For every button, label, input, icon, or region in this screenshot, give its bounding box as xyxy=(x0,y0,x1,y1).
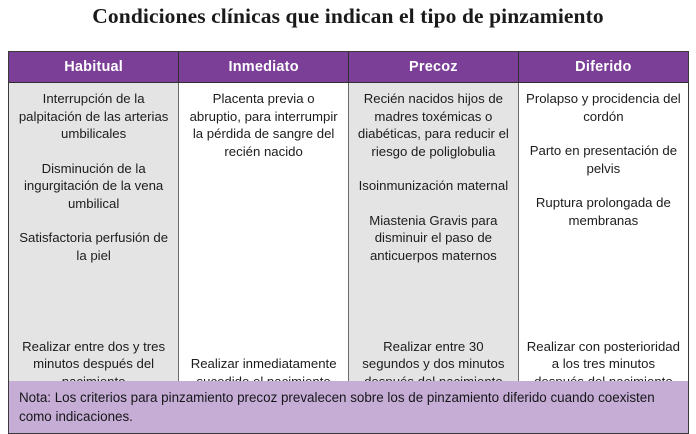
conditions-habitual: Interrupción de la palpitación de las ar… xyxy=(16,90,171,264)
cell-precoz: Recién nacidos hijos de madres toxémicas… xyxy=(349,83,519,413)
cell-inner-diferido: Prolapso y procidencia del cordón Parto … xyxy=(526,90,681,412)
column-header-inmediato: Inmediato xyxy=(179,52,349,83)
table-header: Habitual Inmediato Precoz Diferido xyxy=(9,52,688,83)
conditions-diferido: Prolapso y procidencia del cordón Parto … xyxy=(526,90,681,229)
cell-inmediato: Placenta previa o abruptio, para interru… xyxy=(179,83,349,413)
condition-item: Recién nacidos hijos de madres toxémicas… xyxy=(356,90,511,160)
cell-inner-precoz: Recién nacidos hijos de madres toxémicas… xyxy=(356,90,511,412)
condition-item: Disminución de la ingurgitación de la ve… xyxy=(16,160,171,213)
table-body: Interrupción de la palpitación de las ar… xyxy=(9,83,688,413)
cell-habitual: Interrupción de la palpitación de las ar… xyxy=(9,83,179,413)
column-header-diferido: Diferido xyxy=(518,52,688,83)
cell-inner-habitual: Interrupción de la palpitación de las ar… xyxy=(16,90,171,412)
condition-item: Miastenia Gravis para disminuir el paso … xyxy=(356,212,511,265)
footer-note: Nota: Los criterios para pinzamiento pre… xyxy=(8,381,689,434)
table-header-row: Habitual Inmediato Precoz Diferido xyxy=(9,52,688,83)
table: Habitual Inmediato Precoz Diferido Inter… xyxy=(9,52,688,412)
condition-item: Ruptura prolongada de membranas xyxy=(526,194,681,229)
conditions-precoz: Recién nacidos hijos de madres toxémicas… xyxy=(356,90,511,264)
condition-item: Isoinmunización maternal xyxy=(356,177,511,195)
condition-item: Placenta previa o abruptio, para interru… xyxy=(186,90,341,160)
condition-item: Parto en presentación de pelvis xyxy=(526,142,681,177)
clinical-conditions-table: Habitual Inmediato Precoz Diferido Inter… xyxy=(8,51,689,413)
column-header-habitual: Habitual xyxy=(9,52,179,83)
cell-inner-inmediato: Placenta previa o abruptio, para interru… xyxy=(186,90,341,412)
condition-item: Interrupción de la palpitación de las ar… xyxy=(16,90,171,143)
condition-item: Satisfactoria perfusión de la piel xyxy=(16,229,171,264)
cell-diferido: Prolapso y procidencia del cordón Parto … xyxy=(518,83,688,413)
conditions-inmediato: Placenta previa o abruptio, para interru… xyxy=(186,90,341,160)
page-title: Condiciones clínicas que indican el tipo… xyxy=(0,2,696,30)
page-root: Condiciones clínicas que indican el tipo… xyxy=(0,0,696,434)
column-header-precoz: Precoz xyxy=(349,52,519,83)
condition-item: Prolapso y procidencia del cordón xyxy=(526,90,681,125)
table-row: Interrupción de la palpitación de las ar… xyxy=(9,83,688,413)
